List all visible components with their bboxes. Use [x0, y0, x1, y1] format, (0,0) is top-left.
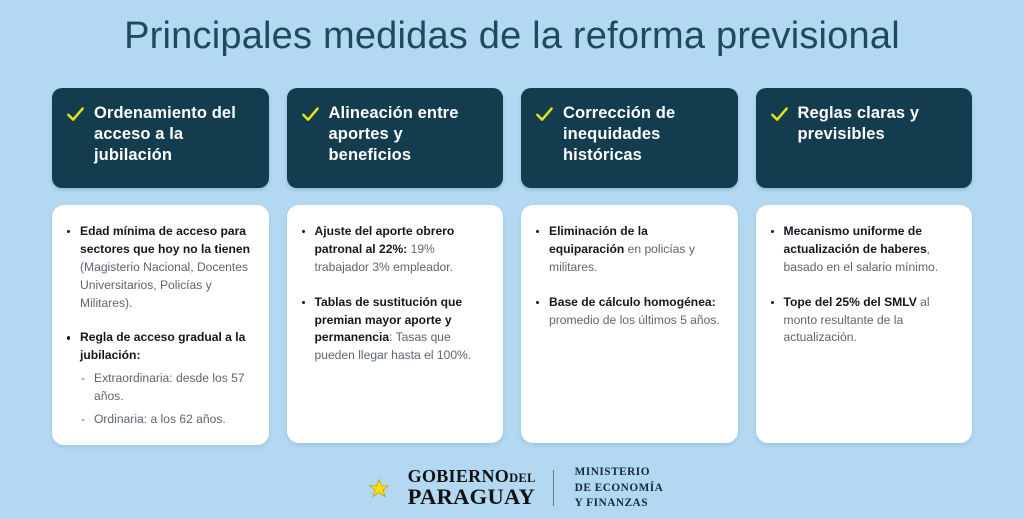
measure-column-1: Ordenamiento del acceso a la jubilación … — [52, 88, 269, 445]
bullet-list-4: Mecanismo uniforme de actualización de h… — [769, 223, 958, 347]
measure-body-card-1: Edad mínima de acceso para sectores que … — [52, 205, 269, 445]
ministry-line-2: DE ECONOMÍA — [575, 481, 664, 496]
bullet-list-3: Eliminación de la equiparación en policí… — [534, 223, 723, 329]
bullet-lead: Mecanismo uniforme de actualización de h… — [784, 224, 927, 256]
check-icon — [535, 105, 554, 124]
bullet-dot-icon — [771, 301, 774, 304]
dash-icon: - — [81, 370, 85, 388]
check-icon — [66, 105, 85, 124]
gov-line-1: GOBIERNODEL — [408, 467, 536, 485]
ministry-wordmark: MINISTERIO DE ECONOMÍA Y FINANZAS — [575, 465, 664, 511]
measures-columns: Ordenamiento del acceso a la jubilación … — [52, 88, 972, 445]
measure-column-4: Reglas claras y previsibles Mecanismo un… — [756, 88, 973, 445]
list-item: Tablas de sustitución que premian mayor … — [300, 294, 489, 366]
sub-bullet-list: -Extraordinaria: desde los 57 años. -Ord… — [80, 370, 254, 429]
ministry-line-3: Y FINANZAS — [575, 496, 664, 511]
bullet-lead: Tope del 25% del SMLV — [784, 295, 917, 309]
measure-body-card-4: Mecanismo uniforme de actualización de h… — [756, 205, 973, 443]
dash-icon: - — [81, 411, 85, 429]
bullet-dot-icon — [302, 301, 305, 304]
paraguay-emblem-icon — [361, 470, 397, 506]
list-item: Base de cálculo homogénea: promedio de l… — [534, 294, 723, 330]
list-item: Regla de acceso gradual a la jubilación:… — [65, 329, 254, 428]
bullet-dot-icon — [536, 230, 539, 233]
measure-body-card-2: Ajuste del aporte obrero patronal al 22%… — [287, 205, 504, 443]
measure-header-title-3: Corrección de inequidades históricas — [563, 103, 724, 166]
ministry-line-1: MINISTERIO — [575, 465, 664, 480]
list-item: Ajuste del aporte obrero patronal al 22%… — [300, 223, 489, 277]
list-item: Tope del 25% del SMLV al monto resultant… — [769, 294, 958, 348]
footer-logo-bar: GOBIERNODEL PARAGUAY MINISTERIO DE ECONO… — [0, 465, 1024, 511]
check-icon — [770, 105, 789, 124]
measure-header-card-3: Corrección de inequidades históricas — [521, 88, 738, 188]
measure-column-2: Alineación entre aportes y beneficios Aj… — [287, 88, 504, 445]
gov-del: DEL — [509, 471, 536, 485]
measure-header-title-4: Reglas claras y previsibles — [798, 103, 959, 145]
bullet-lead: Edad mínima de acceso para sectores que … — [80, 224, 250, 256]
government-wordmark: GOBIERNODEL PARAGUAY — [408, 467, 536, 509]
bullet-lead: Base de cálculo homogénea: — [549, 295, 716, 309]
sub-list-item: -Ordinaria: a los 62 años. — [80, 411, 254, 429]
check-icon — [301, 105, 320, 124]
list-item: Edad mínima de acceso para sectores que … — [65, 223, 254, 312]
measure-body-card-3: Eliminación de la equiparación en policí… — [521, 205, 738, 443]
list-item: Eliminación de la equiparación en policí… — [534, 223, 723, 277]
gov-word: GOBIERNO — [408, 466, 509, 486]
measure-header-card-1: Ordenamiento del acceso a la jubilación — [52, 88, 269, 188]
measure-column-3: Corrección de inequidades históricas Eli… — [521, 88, 738, 445]
bullet-lead: Regla de acceso gradual a la jubilación: — [80, 330, 245, 362]
measure-header-title-1: Ordenamiento del acceso a la jubilación — [94, 103, 255, 166]
bullet-list-2: Ajuste del aporte obrero patronal al 22%… — [300, 223, 489, 365]
sub-bullet-text: Ordinaria: a los 62 años. — [94, 412, 226, 426]
bullet-dot-icon — [771, 230, 774, 233]
bullet-list-1: Edad mínima de acceso para sectores que … — [65, 223, 254, 429]
measure-header-title-2: Alineación entre aportes y beneficios — [329, 103, 490, 166]
sub-list-item: -Extraordinaria: desde los 57 años. — [80, 370, 254, 405]
list-item: Mecanismo uniforme de actualización de h… — [769, 223, 958, 277]
measure-header-card-2: Alineación entre aportes y beneficios — [287, 88, 504, 188]
bullet-rest: (Magisterio Nacional, Docentes Universit… — [80, 260, 248, 310]
gov-country: PARAGUAY — [408, 486, 536, 509]
sub-bullet-text: Extraordinaria: desde los 57 años. — [94, 371, 245, 403]
bullet-dot-icon — [67, 230, 70, 233]
bullet-dot-icon — [536, 301, 539, 304]
logo-divider — [553, 470, 554, 506]
bullet-rest: promedio de los últimos 5 años. — [549, 313, 720, 327]
measure-header-card-4: Reglas claras y previsibles — [756, 88, 973, 188]
bullet-dot-icon — [67, 336, 70, 339]
bullet-dot-icon — [302, 230, 305, 233]
page-title: Principales medidas de la reforma previs… — [0, 14, 1024, 60]
